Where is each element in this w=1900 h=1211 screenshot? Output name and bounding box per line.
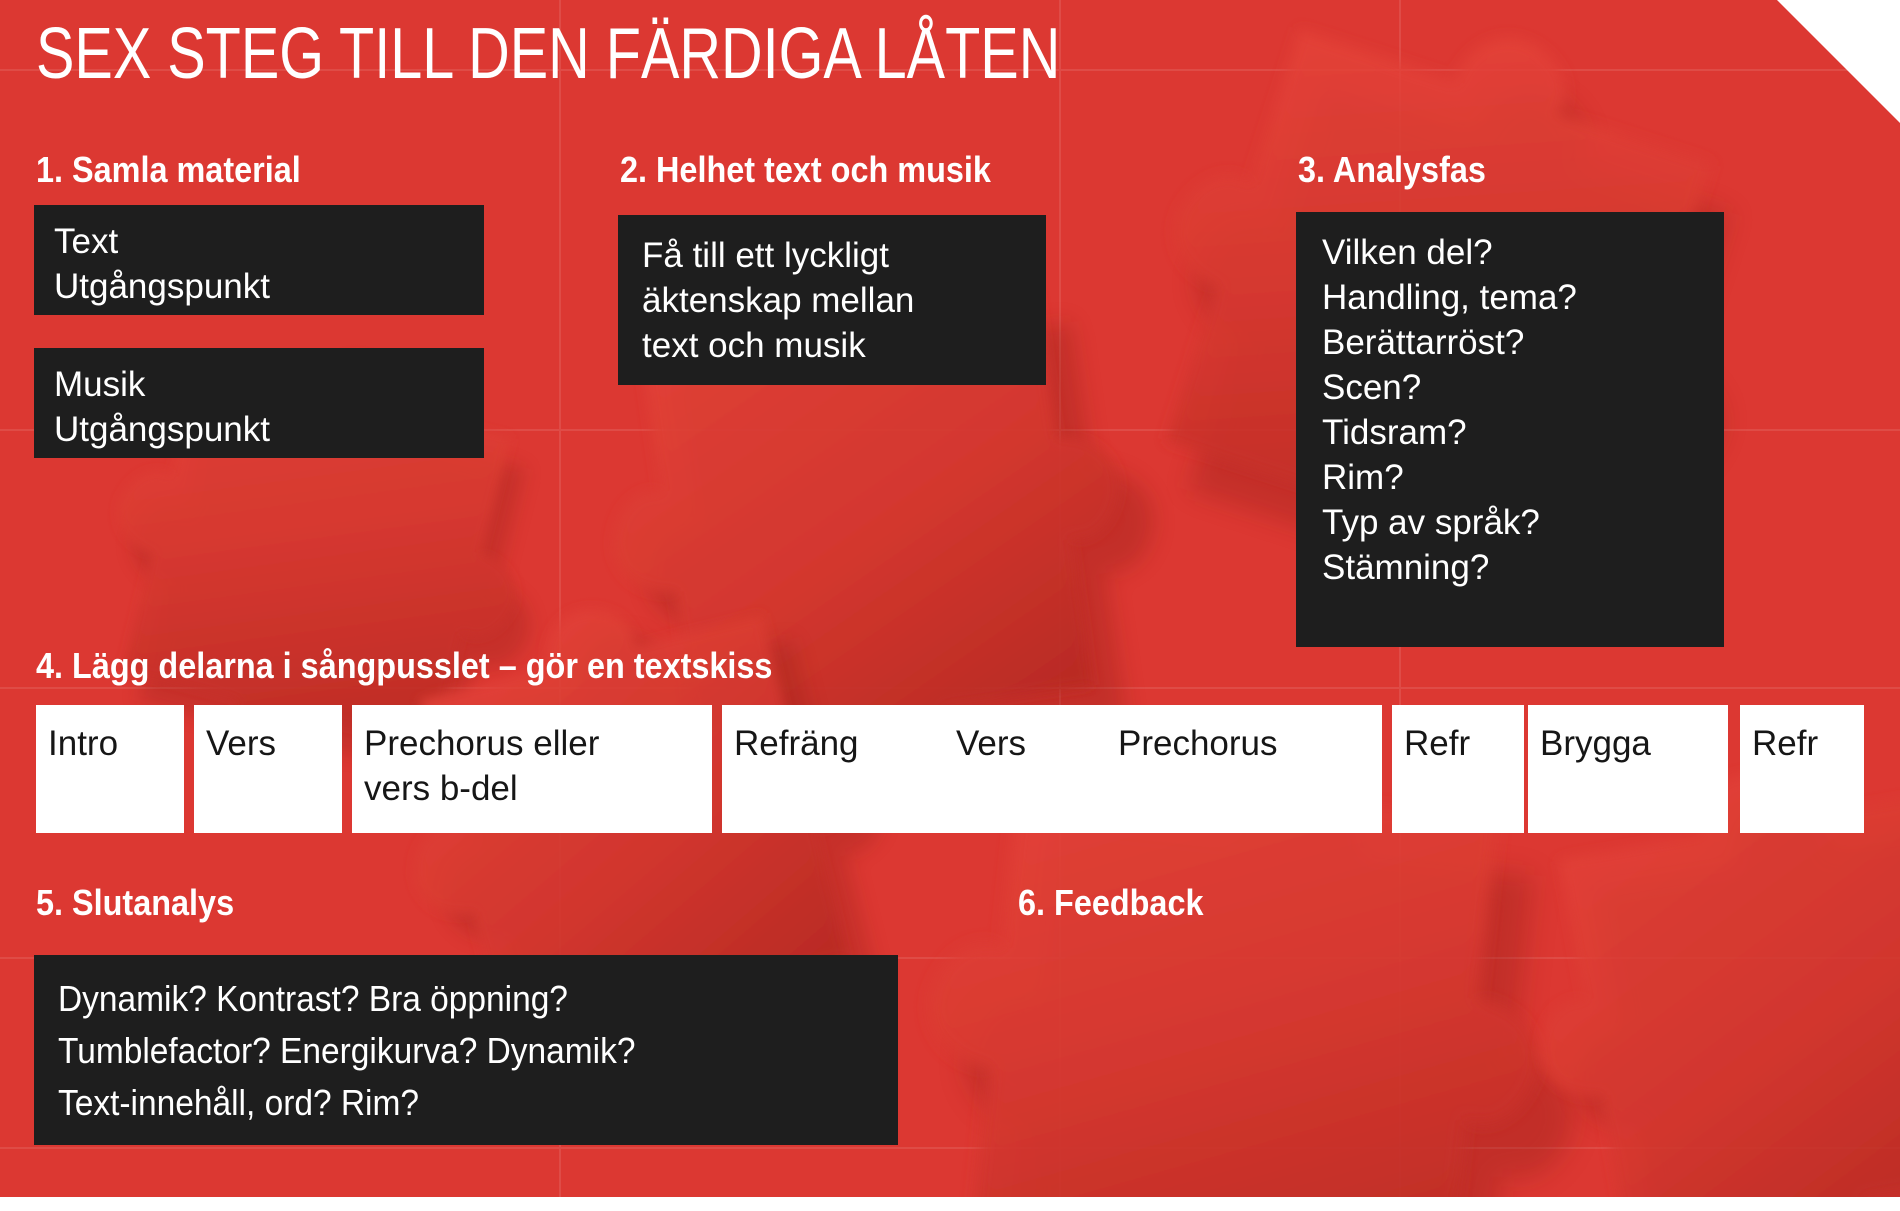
song-structure-row: Intro Vers Prechorus eller vers b-del Re… <box>0 705 1900 833</box>
step-5-heading: 5. Slutanalys <box>36 885 234 921</box>
step-1-box-musik: Musik Utgångspunkt <box>34 348 484 458</box>
step-5-box-line: Dynamik? Kontrast? Bra öppning? <box>58 973 817 1025</box>
song-part-chip-vers-1[interactable]: Vers <box>194 705 342 833</box>
chip-label: Intro <box>48 721 172 766</box>
step-2-box-line: text och musik <box>642 323 1022 368</box>
step-5-box: Dynamik? Kontrast? Bra öppning? Tumblefa… <box>34 955 898 1145</box>
corner-cut-decoration <box>1776 0 1900 124</box>
step-3-box-line: Stämning? <box>1322 545 1698 590</box>
step-5-box-line: Text-innehåll, ord? Rim? <box>58 1077 817 1129</box>
step-5-box-line: Tumblefactor? Energikurva? Dynamik? <box>58 1025 817 1077</box>
chip-label: Vers <box>206 721 330 766</box>
step-2-box: Få till ett lyckligt äktenskap mellan te… <box>618 215 1046 385</box>
step-3-heading: 3. Analysfas <box>1298 152 1486 188</box>
chip-label: Prechorus <box>1118 721 1370 766</box>
step-6-heading: 6. Feedback <box>1018 885 1203 921</box>
song-part-chip-intro[interactable]: Intro <box>36 705 184 833</box>
step-3-box-line: Rim? <box>1322 455 1698 500</box>
song-part-chip-prechorus[interactable]: Prechorus <box>1106 705 1382 833</box>
song-part-chip-vers-2[interactable]: Vers <box>944 705 1106 833</box>
song-part-chip-refr-1[interactable]: Refr <box>1392 705 1524 833</box>
step-2-box-line: äktenskap mellan <box>642 278 1022 323</box>
step-2-box-line: Få till ett lyckligt <box>642 233 1022 278</box>
chip-label: Refräng <box>734 721 942 766</box>
step-1-box-text-line: Utgångspunkt <box>54 264 464 309</box>
step-2-heading: 2. Helhet text och musik <box>620 152 991 188</box>
song-part-chip-prechorus-eller-vers-b-del[interactable]: Prechorus eller vers b-del <box>352 705 712 833</box>
bottom-white-strip <box>0 1197 1900 1211</box>
chip-label: Refr <box>1404 721 1512 766</box>
step-3-box-line: Berättarröst? <box>1322 320 1698 365</box>
infographic-canvas: SEX STEG TILL DEN FÄRDIGA LÅTEN 1. Samla… <box>0 0 1900 1211</box>
step-3-box-line: Handling, tema? <box>1322 275 1698 320</box>
step-1-box-musik-line: Utgångspunkt <box>54 407 464 452</box>
song-part-chip-brygga[interactable]: Brygga <box>1528 705 1728 833</box>
chip-label: Prechorus eller <box>364 721 700 766</box>
step-1-heading: 1. Samla material <box>36 152 301 188</box>
step-1-box-text-line: Text <box>54 219 464 264</box>
song-part-chip-refr-2[interactable]: Refr <box>1740 705 1864 833</box>
step-3-box-line: Scen? <box>1322 365 1698 410</box>
song-part-chip-refrang[interactable]: Refräng <box>722 705 954 833</box>
step-3-box-line: Typ av språk? <box>1322 500 1698 545</box>
step-3-box-line: Tidsram? <box>1322 410 1698 455</box>
chip-label: Vers <box>956 721 1094 766</box>
page-title: SEX STEG TILL DEN FÄRDIGA LÅTEN <box>36 18 1060 91</box>
step-3-box: Vilken del? Handling, tema? Berättarröst… <box>1296 212 1724 647</box>
step-1-box-musik-line: Musik <box>54 362 464 407</box>
step-4-heading: 4. Lägg delarna i sångpusslet – gör en t… <box>36 648 772 684</box>
chip-label: Brygga <box>1540 721 1716 766</box>
chip-label: Refr <box>1752 721 1852 766</box>
step-1-box-text: Text Utgångspunkt <box>34 205 484 315</box>
chip-label: vers b-del <box>364 766 700 811</box>
step-3-box-line: Vilken del? <box>1322 230 1698 275</box>
